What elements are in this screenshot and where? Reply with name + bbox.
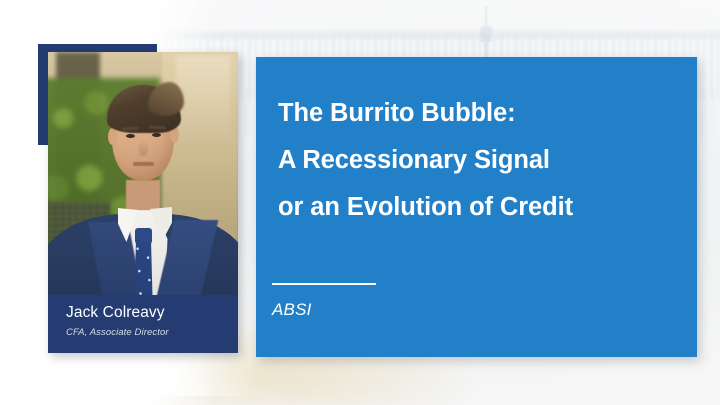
publication-label: ABSI xyxy=(272,300,312,320)
portrait-ear-left xyxy=(108,128,117,145)
portrait-chin xyxy=(128,168,160,181)
title-divider xyxy=(272,283,376,285)
title-line-2: A Recessionary Signal xyxy=(278,137,678,184)
presentation-slide: Jack Colreavy CFA, Associate Director Th… xyxy=(0,0,720,405)
portrait-nose xyxy=(139,140,148,156)
portrait-background-panel xyxy=(176,56,230,144)
author-name: Jack Colreavy xyxy=(66,304,165,322)
title-line-3: or an Evolution of Credit xyxy=(278,184,678,231)
title-line-1: The Burrito Bubble: xyxy=(278,90,678,137)
portrait-tie-knot xyxy=(135,228,152,244)
portrait-eye-right xyxy=(152,133,161,137)
author-name-plate: Jack Colreavy CFA, Associate Director xyxy=(48,295,238,353)
author-role: CFA, Associate Director xyxy=(66,327,169,338)
title-panel: The Burrito Bubble: A Recessionary Signa… xyxy=(256,57,697,357)
slide-title: The Burrito Bubble: A Recessionary Signa… xyxy=(278,90,678,231)
portrait-eye-left xyxy=(126,134,135,138)
author-photo-card: Jack Colreavy CFA, Associate Director xyxy=(48,52,238,353)
portrait-mouth xyxy=(133,162,154,166)
